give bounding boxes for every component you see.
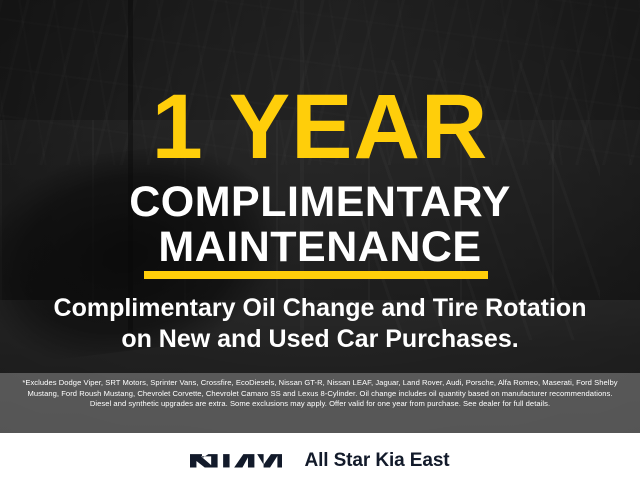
disclaimer-line-2: Mustang, Ford Roush Mustang, Chevrolet C…	[0, 389, 640, 400]
kia-logo	[190, 449, 282, 473]
footer-bar: All Star Kia East	[0, 433, 640, 488]
subheadline-line-2: on New and Used Car Purchases.	[0, 324, 640, 354]
promotional-banner: 1 YEAR COMPLIMENTARY MAINTENANCE Complim…	[0, 0, 640, 488]
disclaimer-line-3: Diesel and synthetic upgrades are extra.…	[0, 399, 640, 410]
headline-block: 1 YEAR COMPLIMENTARY MAINTENANCE Complim…	[0, 0, 640, 433]
disclaimer-block: *Excludes Dodge Viper, SRT Motors, Sprin…	[0, 373, 640, 433]
subheadline-line-1: Complimentary Oil Change and Tire Rotati…	[0, 293, 640, 323]
yellow-divider-rule	[144, 271, 488, 279]
headline-maintenance: MAINTENANCE	[0, 226, 640, 269]
dealer-name: All Star Kia East	[304, 450, 449, 472]
hero-background: 1 YEAR COMPLIMENTARY MAINTENANCE Complim…	[0, 0, 640, 433]
headline-year: 1 YEAR	[0, 81, 640, 173]
headline-complimentary: COMPLIMENTARY	[0, 181, 640, 224]
disclaimer-line-1: *Excludes Dodge Viper, SRT Motors, Sprin…	[0, 378, 640, 389]
